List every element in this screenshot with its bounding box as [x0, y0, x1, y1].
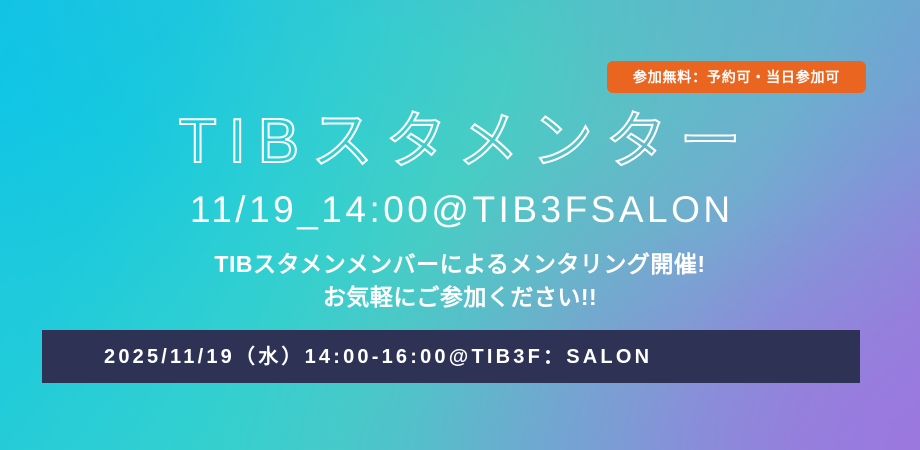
banner-description: TIBスタメンメンバーによるメンタリング開催! お気軽にご参加ください!! — [0, 248, 920, 313]
banner-subtitle: 11/19_14:00@TIB3FSALON — [0, 190, 920, 231]
event-banner: 参加無料：予約可・当日参加可 TIBスタメンター 11/19_14:00@TIB… — [0, 0, 920, 450]
description-line-2: お気軽にご参加ください!! — [0, 281, 920, 314]
description-line-1: TIBスタメンメンバーによるメンタリング開催! — [0, 248, 920, 281]
event-datetime-label: 2025/11/19（水）14:00-16:00@TIB3F：SALON — [104, 347, 652, 367]
event-datetime-bar: 2025/11/19（水）14:00-16:00@TIB3F：SALON — [42, 330, 860, 383]
free-admission-badge: 参加無料：予約可・当日参加可 — [607, 61, 866, 93]
banner-title: TIBスタメンター — [0, 108, 920, 176]
free-admission-badge-label: 参加無料：予約可・当日参加可 — [633, 70, 840, 84]
